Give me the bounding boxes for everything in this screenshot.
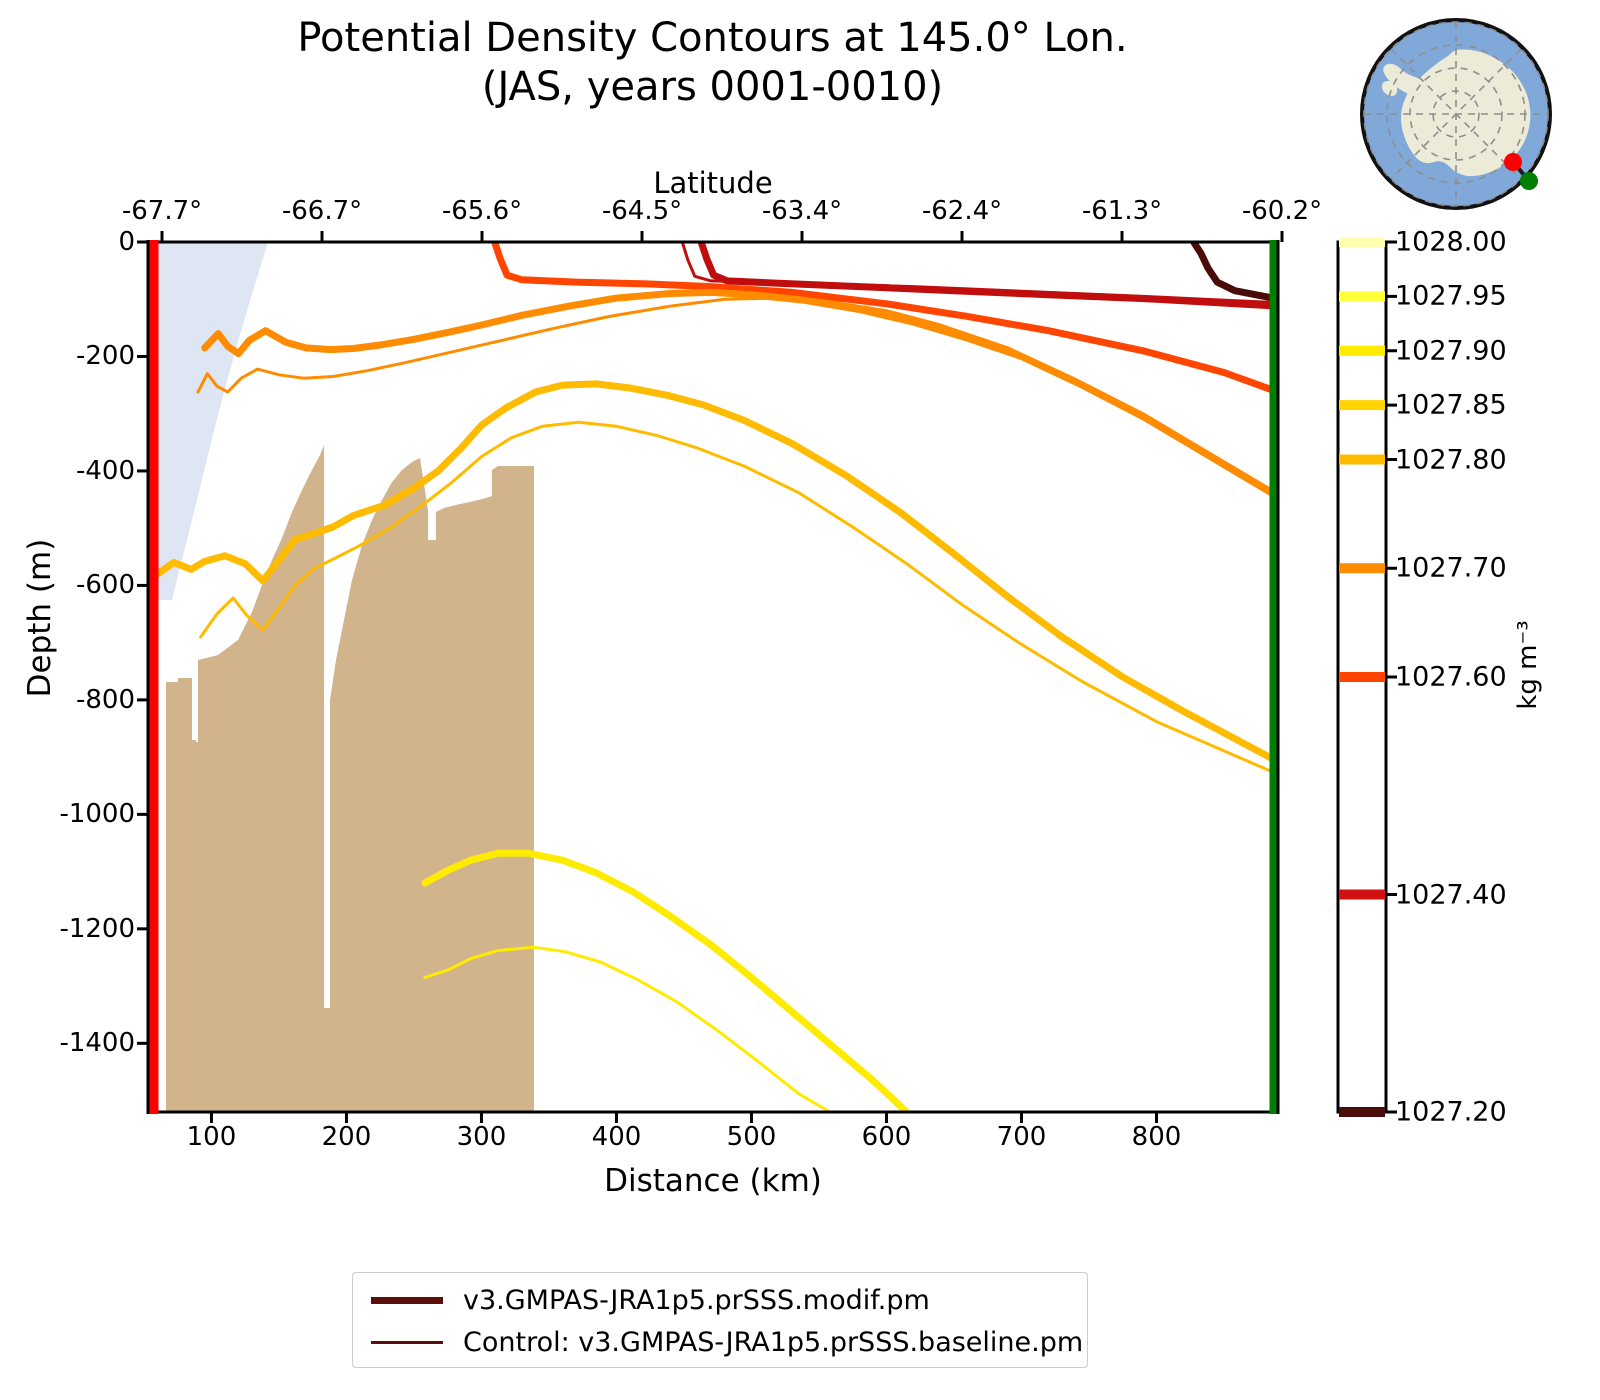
latitude-tick-label: -64.5° [602, 196, 682, 226]
colorbar-tick-label: 1027.95 [1395, 281, 1507, 312]
depth-tick-label: -400 [76, 456, 135, 486]
depth-tick-label: -200 [76, 341, 135, 371]
latitude-tick-label: -60.2° [1242, 196, 1322, 226]
density-contour-lines [158, 243, 1279, 1112]
legend-item-control: Control: v3.GMPAS-JRA1p5.prSSS.baseline.… [371, 1325, 1083, 1359]
depth-tick-label: -1400 [59, 1028, 135, 1058]
contour-line [1194, 243, 1278, 299]
latitude-axis-title: Latitude [148, 166, 1278, 200]
transect-start-dot [1504, 153, 1522, 171]
legend-line-swatch-control [371, 1341, 443, 1344]
depth-tick-label: -1200 [59, 914, 135, 944]
latitude-tick-label: -65.6° [442, 196, 522, 226]
ice-shelf-region [152, 242, 268, 600]
distance-tick-label: 200 [322, 1122, 372, 1152]
colorbar-band [1339, 400, 1385, 410]
figure-root: Potential Density Contours at 145.0° Lon… [0, 0, 1600, 1400]
contour-line [158, 384, 1279, 762]
colorbar-axis-title: kg m⁻³ [1513, 585, 1543, 745]
colorbar-band [1339, 890, 1385, 900]
legend-label-modif: v3.GMPAS-JRA1p5.prSSS.modif.pm [463, 1285, 930, 1316]
colorbar-tick-label: 1027.60 [1395, 662, 1507, 693]
depth-tick-label: 0 [118, 227, 135, 257]
latitude-tick-label: -61.3° [1082, 196, 1162, 226]
distance-tick-label: 500 [727, 1122, 777, 1152]
latitude-tick-label: -67.7° [122, 196, 202, 226]
colorbar-band [1339, 346, 1385, 356]
legend-label-control: Control: v3.GMPAS-JRA1p5.prSSS.baseline.… [463, 1327, 1083, 1358]
legend-line-swatch-modif [371, 1297, 443, 1304]
colorbar-band [1339, 237, 1385, 247]
depth-tick-label: -1000 [59, 799, 135, 829]
transect-end-dot [1520, 172, 1538, 190]
colorbar-band [1339, 672, 1385, 682]
antarctic-inset-map [1352, 10, 1560, 218]
bathymetry-region [166, 445, 534, 1112]
colorbar-tick-label: 1027.20 [1395, 1097, 1507, 1128]
distance-tick-label: 300 [457, 1122, 507, 1152]
distance-axis-title: Distance (km) [148, 1163, 1278, 1199]
legend-item-modif: v3.GMPAS-JRA1p5.prSSS.modif.pm [371, 1283, 930, 1317]
distance-tick-label: 800 [1132, 1122, 1182, 1152]
colorbar-band [1339, 455, 1385, 465]
colorbar-tick-label: 1027.80 [1395, 444, 1507, 475]
colorbar-tick-label: 1027.70 [1395, 553, 1507, 584]
legend-box: v3.GMPAS-JRA1p5.prSSS.modif.pm Control: … [352, 1272, 1088, 1368]
colorbar-tick-label: 1028.00 [1395, 227, 1507, 258]
distance-tick-label: 700 [997, 1122, 1047, 1152]
colorbar-band [1339, 563, 1385, 573]
latitude-tick-label: -62.4° [922, 196, 1002, 226]
colorbar-tick-label: 1027.85 [1395, 390, 1507, 421]
colorbar-band [1339, 291, 1385, 301]
colorbar-band [1339, 1107, 1385, 1117]
latitude-tick-label: -66.7° [282, 196, 362, 226]
depth-axis-title: Depth (m) [22, 508, 58, 728]
distance-tick-label: 600 [862, 1122, 912, 1152]
colorbar-tick-label: 1027.90 [1395, 335, 1507, 366]
depth-tick-label: -800 [76, 685, 135, 715]
latitude-tick-label: -63.4° [762, 196, 842, 226]
depth-tick-label: -600 [76, 570, 135, 600]
distance-tick-label: 400 [592, 1122, 642, 1152]
distance-tick-label: 100 [187, 1122, 237, 1152]
colorbar-tick-label: 1027.40 [1395, 879, 1507, 910]
colorbar-group [1338, 237, 1397, 1117]
